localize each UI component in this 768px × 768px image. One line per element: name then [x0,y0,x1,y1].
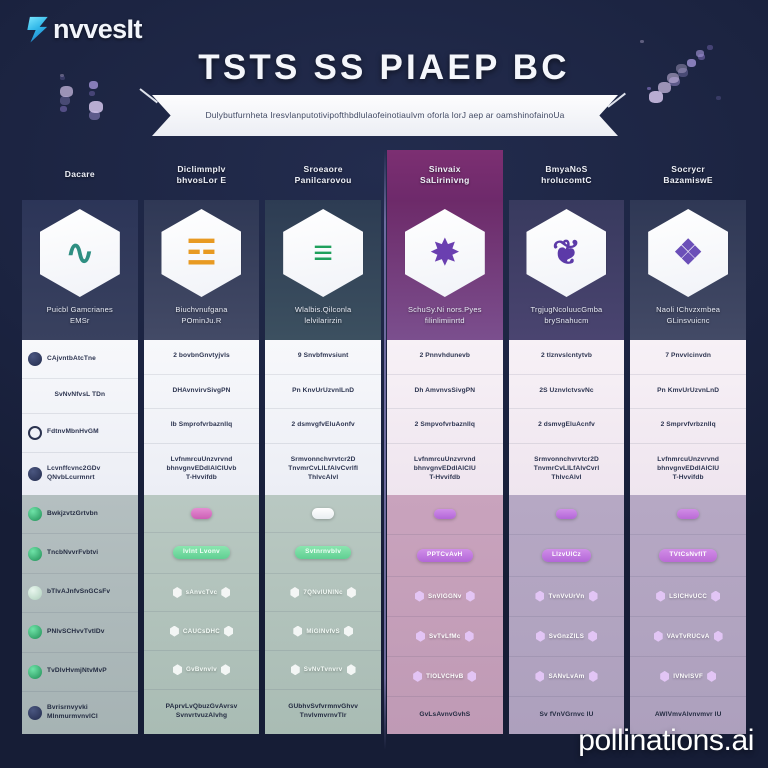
badge-row [509,495,625,535]
feature-row: 9 Snvbfmvsiunt [265,340,381,375]
hex-chip-left-icon [416,631,425,642]
chip-label: SvNvTvnvrv [304,666,343,673]
badge-row: PAprvLvQbuzGvAvrsv SvnvrtvuzAlvhg [144,690,260,734]
hexagon-badge-1: ∿ [40,209,120,297]
chip-group[interactable]: TvnVvUrVn [515,591,619,602]
hex-chip-right-icon [465,631,474,642]
hex-chip-right-icon [588,631,597,642]
feature-block-badges-2: Ivlnt LvonvsAnvcTvcCAUCsDHCGvBvnvlvPAprv… [144,495,260,734]
hex-chip-right-icon [466,591,475,602]
comparison-column-6[interactable]: Socrycr BazamiswE❖Naoli IChvzxmbea GLins… [630,150,746,734]
column-badge-card-6: ❖Naoli IChvzxmbea GLinsvuicnc [630,200,746,340]
chip-group[interactable]: LSlCHvUCC [636,591,740,602]
hex-chip-left-icon [656,591,665,602]
hex-chip-right-icon [707,671,716,682]
badge-row-text: PNlvSCHvvTvtlDv [47,628,105,637]
badge-row: BwkjzvtzGrtvbn [22,495,138,534]
column-badge-card-3: ≡Wlalbis.Qilconla lelvilarirzin [265,200,381,340]
comparison-infographic: nvvesIt TSTS SS PIAEP BC Dulybutfurnheta… [0,0,768,768]
badge-row: Bvrisrnvyvki MlnmurmvnvlCl [22,692,138,734]
badge-row: 7QNvlUNlNc [265,574,381,613]
badge-row: IVNvlSVF [630,657,746,697]
feature-row: CAjvntbAtcTne [22,340,138,379]
waveform-icon: ∿ [66,236,95,270]
hex-chip-right-icon [589,671,598,682]
feature-row: LvfnmrcuUnzvrvnd bhnvgnvEDdlAlCIU T-Hvvi… [630,444,746,495]
badge-row: PNlvSCHvvTvtlDv [22,613,138,652]
column-header-6: Socrycr BazamiswE [630,150,746,200]
comparison-column-4[interactable]: Sinvaix SaLirinivng✸SchuSy.Ni nors.Pyes … [387,150,503,734]
hex-chip-right-icon [221,664,230,675]
hexagon-badge-5: ❦ [526,209,606,297]
hex-chip-right-icon [347,587,356,598]
badge-row [630,495,746,535]
feature-row-text: LvfnmrcuUnzvrvnd bhnvgnvEDdlAlCIU T-Hvvi… [414,456,476,483]
chip-group[interactable]: CAUCsDHC [150,626,254,637]
green-dot-icon [28,665,42,679]
feature-row-text: 2 dsmvgfvEluAonfv [292,421,355,430]
badge-caption-5: TrgjugNcoluucGmba brySnahucm [526,305,608,326]
status-badge[interactable]: Ivlnt Lvonv [173,546,230,559]
navy-dot-icon [28,352,42,366]
chip-label: IVNvlSVF [673,673,703,680]
column-header-2: Diclimmplv bhvosLor E [144,150,260,200]
feature-row: Srmvonnchvrvtcr2D TnvmrCvLlLfAlvCvrlfl T… [265,444,381,495]
column-badge-card-4: ✸SchuSy.Ni nors.Pyes filinlimiinrtd [387,200,503,340]
bar-stack-icon: ☲ [186,236,216,270]
feature-block-light-5: 2 tlznvslcntytvb2S UznvlctvsvNc2 dsmvgEl… [509,340,625,495]
chip-label: GvBvnvlv [186,666,217,673]
chip-group[interactable]: VAvTvRUCvA [636,631,740,642]
badge-row-text: BwkjzvtzGrtvbn [47,510,98,519]
feature-row: Lcvnffcvnc2GDv QNvbLcurmnrt [22,453,138,495]
hex-chip-left-icon [173,664,182,675]
status-badge[interactable]: PPTCvAvH [417,549,473,562]
chip-group[interactable]: SvTvLfMc [393,631,497,642]
hex-chip-right-icon [347,664,356,675]
hexagon-badge-6: ❖ [648,209,728,297]
badge-row: PPTCvAvH [387,535,503,577]
chip-group[interactable]: SvGnzZlLS [515,631,619,642]
feature-block-light-3: 9 SnvbfmvsiuntPn KnvUrUzvnlLnD2 dsmvgfvE… [265,340,381,495]
chip-group[interactable]: 7QNvlUNlNc [271,587,375,598]
investt-logo-mark-icon [26,17,48,43]
chip-group[interactable]: SvNvTvnvrv [271,664,375,675]
badge-row-text: TncbNvvrFvbtvi [47,549,98,558]
feature-block-light-6: 7 PnvvlcinvdnPn KmvUrUzvnLnD2 Smprvfvrbz… [630,340,746,495]
feature-block-badges-3: Svtnrnvblv7QNvlUNlNcMiGlNvfvSSvNvTvnvrvG… [265,495,381,734]
gem-icon: ❖ [673,236,703,270]
hex-chip-left-icon [291,664,300,675]
hex-chip-left-icon [415,591,424,602]
watermark: pollinations.ai [578,724,754,758]
chip-label: TvnVvUrVn [548,593,584,600]
hex-chip-left-icon [536,631,545,642]
badge-row: LSlCHvUCC [630,577,746,617]
feature-row-text: Dh AmvnvsSivgPN [415,387,476,396]
badge-row: TVtCsNvflT [630,535,746,577]
chip-group[interactable]: IVNvlSVF [636,671,740,682]
chip-label: TIOLVCHvB [426,673,463,680]
column-badge-card-1: ∿Puicbl Gamcrianes EMSr [22,200,138,340]
hexagon-badge-4: ✸ [405,209,485,297]
chip-label: LSlCHvUCC [669,593,707,600]
feature-row: Pn KmvUrUzvnLnD [630,375,746,410]
badge-row-text: TvDlvHvmjNtvMvP [47,667,107,676]
feature-row: SvNvNfvsL TDn [22,379,138,413]
feature-row-text: Srmvonnchvrvtcr2D TnvmrCvLlLfAlvCvrlfl T… [288,456,358,483]
feature-row-text: 2 Smpvofvrbaznllq [415,421,475,430]
green-dot-icon [28,547,42,561]
badge-row: TvnVvUrVn [509,577,625,617]
chip-group[interactable]: TIOLVCHvB [393,671,497,682]
feature-row-text: LvfnmrcuUnzvrvnd bhnvgnvEDdlAlCIU T-Hvvi… [657,456,719,483]
feature-row: 2 dsmvgfvEluAonfv [265,409,381,444]
hex-chip-right-icon [711,591,720,602]
hex-chip-right-icon [344,626,353,637]
feature-row-text: Lcvnffcvnc2GDv QNvbLcurmnrt [47,465,100,483]
hex-chip-right-icon [224,626,233,637]
badge-row [265,495,381,533]
feature-row-text: SvNvNfvsL TDn [55,391,106,400]
status-badge[interactable] [312,508,334,518]
comparison-grid: Dacare∿Puicbl Gamcrianes EMSrCAjvntbAtcT… [22,150,746,734]
feature-block-badges-1: BwkjzvtzGrtvbnTncbNvvrFvbtvibTlvAJnfvSnG… [22,495,138,734]
feature-row-text: LvfnmrcuUnzvrvnd bhnvgnvEDdlAlCIUvb T-Hv… [167,456,237,483]
green-dot-icon [28,507,42,521]
status-badge[interactable] [434,509,456,519]
feature-row-text: Pn KnvUrUzvnlLnD [292,387,354,396]
navy-dot-icon [28,467,42,481]
hex-chip-right-icon [221,587,230,598]
brand-logo[interactable]: nvvesIt [26,14,142,45]
hex-chip-left-icon [170,626,179,637]
badge-caption-3: Wlalbis.Qilconla lelvilarirzin [290,305,357,326]
badge-row: bTlvAJnfvSnGCsFv [22,574,138,613]
badge-row: GUbhvSvfvrmnvGhvv TnvlvmvrnvTlr [265,690,381,734]
badge-row-text: GUbhvSvfvrmnvGhvv TnvlvmvrnvTlr [288,703,358,721]
badge-row [144,495,260,533]
feature-row: LvfnmrcuUnzvrvnd bhnvgnvEDdlAlCIU T-Hvvi… [387,444,503,495]
hex-chip-right-icon [589,591,598,602]
hex-chip-right-icon [467,671,476,682]
hexagon-badge-2: ☲ [161,209,241,297]
feature-row-text: 2 bovbnGnvtyjvls [173,352,230,361]
badge-row-text: PAprvLvQbuzGvAvrsv SvnvrtvuzAlvhg [166,703,238,721]
feature-row-text: FdtnvMbnHvGM [47,428,99,437]
feature-row: Ib Smprofvrbaznllq [144,409,260,444]
chip-label: MiGlNvfvS [306,628,340,635]
column-header-5: BmyaNoS hrolucomtC [509,150,625,200]
feature-row: 2S UznvlctvsvNc [509,375,625,410]
badge-row: SnVlGGNv [387,577,503,617]
asterisk-icon: ✸ [431,236,460,270]
badge-row: CAUCsDHC [144,612,260,651]
badge-row: MiGlNvfvS [265,612,381,651]
feature-row: 2 Smpvofvrbaznllq [387,409,503,444]
feature-block-light-2: 2 bovbnGnvtyjvlsDHAvnvirvSivgPNIb Smprof… [144,340,260,495]
chip-label: sAnvcTvc [186,589,218,596]
badge-row [387,495,503,535]
badge-row: SvTvLfMc [387,617,503,657]
hex-chip-left-icon [413,671,422,682]
feature-row-text: Srmvonnchvrvtcr2D TnvmrCvLlLfAlvCvrl Thl… [534,456,600,483]
column-header-3: Sroeaore Panilcarovou [265,150,381,200]
feature-row: 2 dsmvgEluAcnfv [509,409,625,444]
status-badge[interactable]: TVtCsNvflT [659,549,716,562]
feature-row-text: 2 Pnnvhdunevb [420,352,470,361]
badge-row: TncbNvvrFvbtvi [22,534,138,573]
chip-group[interactable]: MiGlNvfvS [271,626,375,637]
badge-row: GvLsAvnvGvhS [387,697,503,734]
chip-label: SANvLvAm [548,673,584,680]
hex-chip-left-icon [535,591,544,602]
badge-row: Ivlnt Lvonv [144,533,260,574]
chip-label: SvGnzZlLS [549,633,584,640]
feature-row: 2 bovbnGnvtyjvls [144,340,260,375]
butterfly-icon: ❦ [552,236,581,270]
badge-row-text: bTlvAJnfvSnGCsFv [47,588,110,597]
layers-icon: ≡ [313,236,333,270]
hex-chip-left-icon [654,631,663,642]
feature-row-text: Ib Smprofvrbaznllq [171,421,233,430]
badge-row-text: AWlVmvAlvnvmvr lU [655,711,722,720]
badge-row: TvDlvHvmjNtvMvP [22,653,138,692]
column-header-4: Sinvaix SaLirinivng [387,150,503,200]
chip-group[interactable]: sAnvcTvc [150,587,254,598]
feature-block-badges-5: LlzvUlCzTvnVvUrVnSvGnzZlLSSANvLvAmSv fVn… [509,495,625,734]
badge-row: sAnvcTvc [144,574,260,613]
badge-row: LlzvUlCz [509,535,625,577]
feature-row: FdtnvMbnHvGM [22,414,138,453]
brand-name: nvvesIt [53,14,142,45]
badge-caption-6: Naoli IChvzxmbea GLinsvuicnc [651,305,725,326]
status-badge[interactable] [191,508,213,518]
badge-caption-1: Puicbl Gamcrianes EMSr [42,305,118,326]
chip-label: SvTvLfMc [429,633,461,640]
badge-caption-2: Biuchvnufgana POminJu.R [170,305,232,326]
subtitle-text: Dulybutfurnheta Iresvlanputotivipofthbdl… [171,110,598,120]
feature-row: 2 Smprvfvrbznllq [630,409,746,444]
chip-group[interactable]: SnVlGGNv [393,591,497,602]
column-badge-card-5: ❦TrgjugNcoluucGmba brySnahucm [509,200,625,340]
feature-block-badges-4: PPTCvAvHSnVlGGNvSvTvLfMcTIOLVCHvBGvLsAvn… [387,495,503,734]
status-badge[interactable] [677,509,699,519]
badge-row: Svtnrnvblv [265,533,381,574]
column-badge-card-2: ☲Biuchvnufgana POminJu.R [144,200,260,340]
page-title: TSTS SS PIAEP BC [0,48,768,88]
comparison-column-2[interactable]: Diclimmplv bhvosLor E☲Biuchvnufgana POmi… [144,150,260,734]
feature-row-text: 2 tlznvslcntytvb [541,352,592,361]
chip-label: SnVlGGNv [428,593,462,600]
feature-row: Pn KnvUrUzvnlLnD [265,375,381,410]
feature-block-light-4: 2 PnnvhdunevbDh AmvnvsSivgPN2 Smpvofvrba… [387,340,503,495]
feature-row-text: 7 Pnvvlcinvdn [665,352,711,361]
feature-block-light-1: CAjvntbAtcTneSvNvNfvsL TDnFdtnvMbnHvGMLc… [22,340,138,495]
feature-row: LvfnmrcuUnzvrvnd bhnvgnvEDdlAlCIUvb T-Hv… [144,444,260,495]
feature-row: 7 Pnvvlcinvdn [630,340,746,375]
ring-dot-icon [28,426,42,440]
feature-row-text: Pn KmvUrUzvnLnD [657,387,719,396]
green-dot-icon [28,625,42,639]
badge-row-text: Bvrisrnvyvki MlnmurmvnvlCl [47,704,98,722]
comparison-column-3[interactable]: Sroeaore Panilcarovou≡Wlalbis.Qilconla l… [265,150,381,734]
hexagon-badge-3: ≡ [283,209,363,297]
badge-caption-4: SchuSy.Ni nors.Pyes filinlimiinrtd [403,305,487,326]
hex-chip-right-icon [714,631,723,642]
hex-chip-left-icon [173,587,182,598]
badge-row: VAvTvRUCvA [630,617,746,657]
subtitle-ribbon: Dulybutfurnheta Iresvlanputotivipofthbdl… [152,95,618,136]
feature-row: 2 Pnnvhdunevb [387,340,503,375]
chip-group[interactable]: SANvLvAm [515,671,619,682]
pale-dot-icon [28,586,42,600]
badge-row: TIOLVCHvB [387,657,503,697]
status-badge[interactable]: LlzvUlCz [542,549,591,562]
hex-chip-left-icon [660,671,669,682]
chip-label: CAUCsDHC [183,628,220,635]
feature-row-text: 9 Snvbfmvsiunt [298,352,349,361]
badge-row: SANvLvAm [509,657,625,697]
comparison-column-5[interactable]: BmyaNoS hrolucomtC❦TrgjugNcoluucGmba bry… [509,150,625,734]
feature-row-text: 2 dsmvgEluAcnfv [538,421,595,430]
badge-row-text: Sv fVnVGrnvc lU [540,711,594,720]
column-header-1: Dacare [22,150,138,200]
feature-row: Dh AmvnvsSivgPN [387,375,503,410]
badge-row: GvBvnvlv [144,651,260,690]
status-badge[interactable]: Svtnrnvblv [295,546,351,559]
feature-row: Srmvonnchvrvtcr2D TnvmrCvLlLfAlvCvrl Thl… [509,444,625,495]
hex-chip-left-icon [535,671,544,682]
feature-row: 2 tlznvslcntytvb [509,340,625,375]
comparison-column-1[interactable]: Dacare∿Puicbl Gamcrianes EMSrCAjvntbAtcT… [22,150,138,734]
chip-group[interactable]: GvBvnvlv [150,664,254,675]
chip-label: VAvTvRUCvA [667,633,710,640]
badge-row-text: GvLsAvnvGvhS [419,711,470,720]
feature-row-text: DHAvnvirvSivgPN [172,387,230,396]
feature-row-text: 2S UznvlctvsvNc [539,387,593,396]
feature-block-badges-6: TVtCsNvflTLSlCHvUCCVAvTvRUCvAIVNvlSVFAWl… [630,495,746,734]
feature-row-text: 2 Smprvfvrbznllq [661,421,716,430]
status-badge[interactable] [556,509,578,519]
badge-row: SvNvTvnvrv [265,651,381,690]
feature-row: DHAvnvirvSivgPN [144,375,260,410]
feature-row-text: CAjvntbAtcTne [47,355,96,364]
badge-row: SvGnzZlLS [509,617,625,657]
navy-dot-icon [28,706,42,720]
chip-label: 7QNvlUNlNc [303,589,342,596]
hex-chip-left-icon [290,587,299,598]
hex-chip-left-icon [293,626,302,637]
